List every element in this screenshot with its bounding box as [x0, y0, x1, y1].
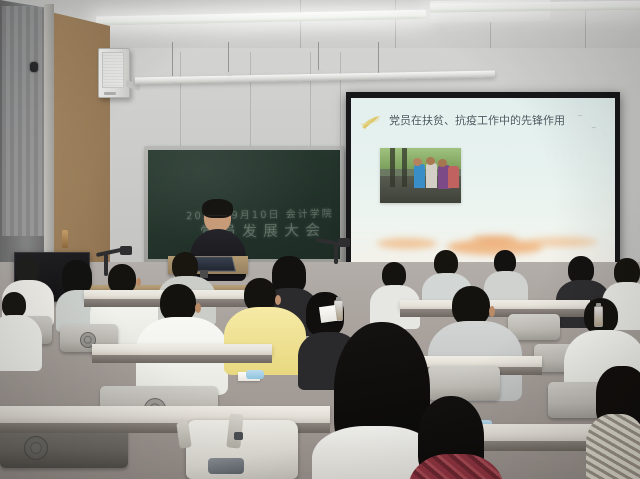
water-bottle: [62, 230, 68, 248]
photo-person-head: [438, 159, 447, 167]
surgical-mask-on-desk: [246, 370, 264, 379]
photo-person-white: [426, 163, 437, 188]
slide-bird-glyph: ~: [547, 118, 553, 126]
student-desk-row: [92, 344, 272, 356]
camera-tripod-rig: [316, 238, 356, 268]
pendant-wire: [228, 42, 229, 76]
desk-edge: [92, 355, 272, 363]
pendant-wire: [378, 42, 379, 76]
presentation-slide: 党员在扶贫、抗疫工作中的先锋作用 ~ ~ ~: [351, 98, 615, 265]
ceiling-camera-icon: [30, 62, 38, 72]
presenter-glasses: [207, 215, 228, 221]
poverty-alleviation-field-photo: [380, 148, 461, 203]
student-torso: [0, 315, 42, 371]
bottle-cap: [596, 303, 601, 307]
student-chair-back: [428, 366, 500, 400]
photo-person-head: [413, 158, 422, 166]
student-ear: [275, 295, 281, 305]
photo-person-blue: [414, 164, 425, 188]
slide-bird-glyph: ~: [591, 124, 597, 132]
student-ear: [195, 303, 201, 313]
student-torso: [224, 307, 306, 375]
desk-edge: [400, 309, 590, 317]
photo-person-red: [448, 166, 459, 188]
student-ear: [136, 278, 141, 286]
speaker-brand-mark: [104, 92, 116, 95]
pendant-wire: [172, 42, 173, 76]
projection-screen-frame: 党员在扶贫、抗疫工作中的先锋作用 ~ ~ ~: [346, 92, 620, 272]
wall-mounted-speaker: [98, 48, 130, 98]
camera-head: [120, 246, 132, 255]
chalkboard-surface: 2020年9月10日 会计学院 党员发展大会: [148, 150, 340, 259]
student-ear: [489, 306, 495, 317]
bottle-cap: [336, 297, 341, 301]
photo-person-head: [426, 157, 435, 165]
backpack-buckle: [208, 458, 244, 474]
student-head: [452, 286, 490, 326]
slide-watercolor-cloud: [377, 238, 437, 249]
student-patterned-top: [586, 414, 640, 479]
vertical-blinds: [2, 6, 46, 236]
camera-pole: [104, 254, 108, 276]
party-hammer-sickle-emblem: [359, 112, 385, 132]
slide-title: 党员在扶贫、抗疫工作中的先锋作用: [389, 112, 565, 128]
camera-pole: [334, 244, 338, 264]
pendant-mount: [316, 70, 323, 74]
pendant-mount: [226, 72, 233, 76]
water-bottle: [594, 306, 603, 327]
school-crest-emblem: [24, 436, 48, 460]
speaker-grill: [102, 52, 124, 88]
classroom-photo: 2020年9月10日 会计学院 党员发展大会 党员在扶贫、抗疫工作中的先锋作用: [0, 0, 640, 479]
camera-head: [338, 238, 350, 247]
photo-tree-trunk: [390, 148, 395, 187]
slide-watercolor-cloud: [527, 237, 597, 247]
paper-sheet-on-desk: [319, 305, 337, 323]
student-long-hair: [62, 260, 92, 294]
backpack-clip: [234, 432, 243, 440]
slide-bird-glyph: ~: [577, 112, 583, 120]
slide-watercolor-cloud: [471, 235, 517, 243]
student-desk-row: [400, 300, 590, 310]
photo-tree-trunk: [402, 148, 407, 187]
